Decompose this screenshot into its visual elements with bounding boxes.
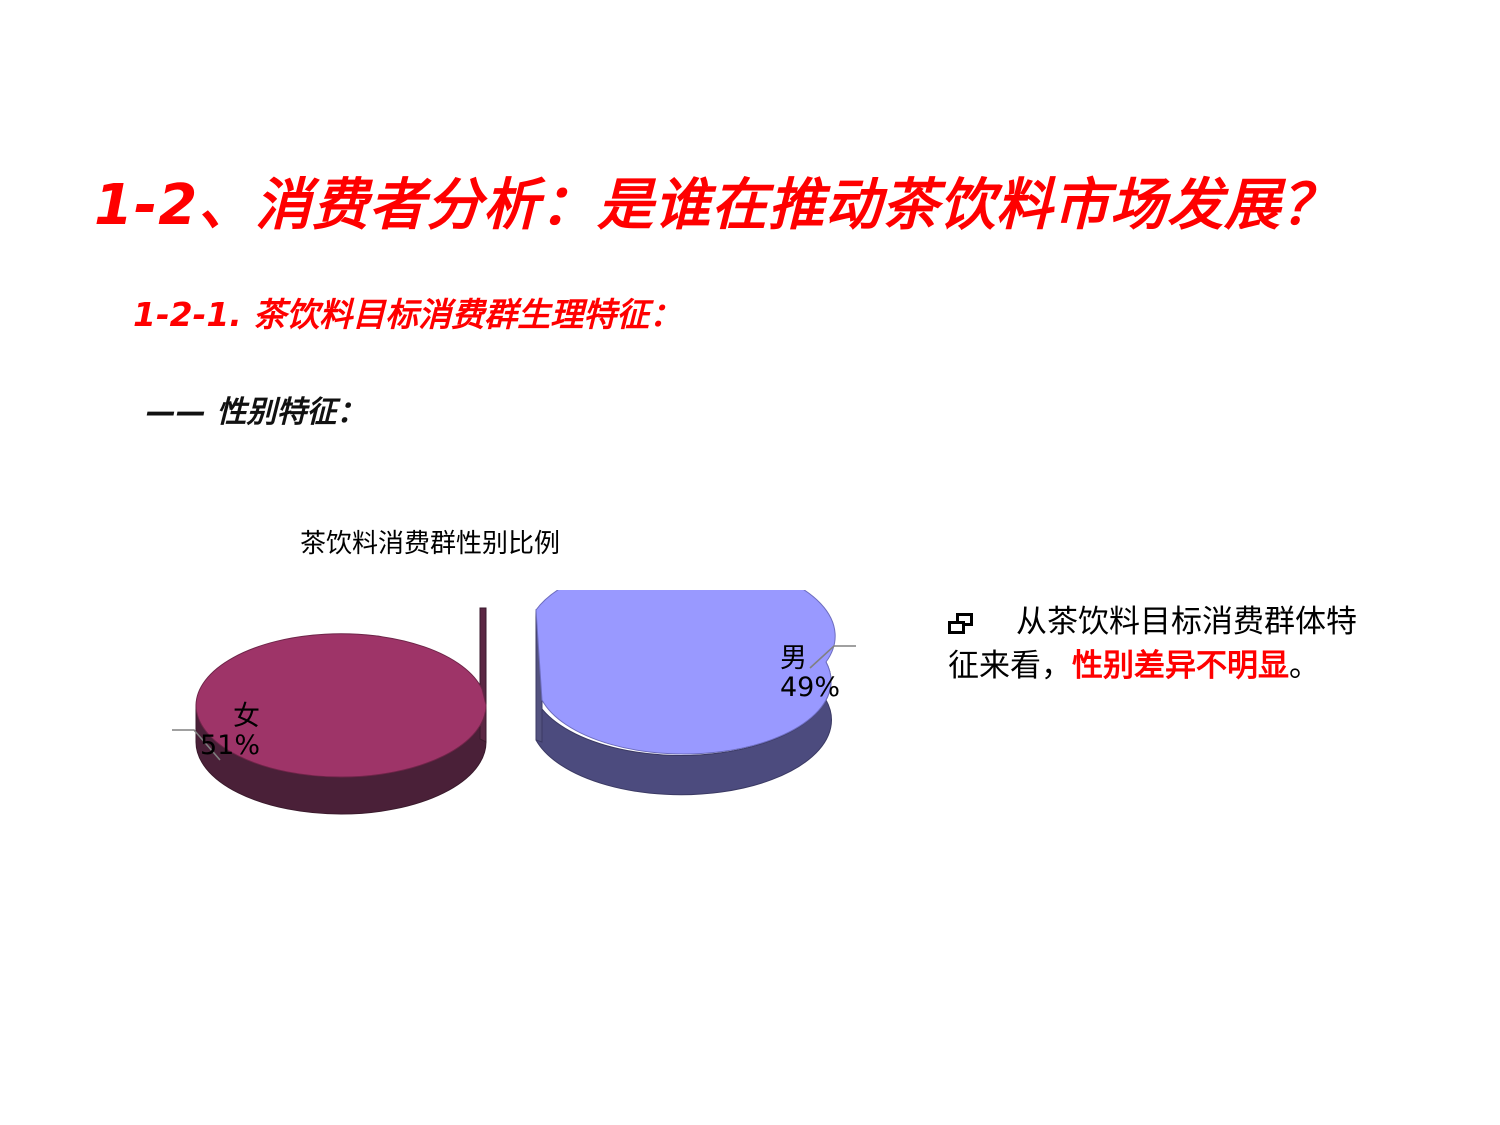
chart-title: 茶饮料消费群性别比例: [150, 523, 710, 560]
pie-label-female-percent: 51%: [188, 732, 260, 761]
commentary-text-tail: 。: [1289, 648, 1320, 684]
commentary-highlight: 性别差异不明显: [1072, 648, 1289, 684]
pie-label-male-category: 男: [780, 645, 870, 674]
commentary-paragraph: 从茶饮料目标消费群体特征来看，性别差异不明显。: [948, 600, 1368, 688]
pie-label-female: 女 51%: [188, 703, 260, 760]
pie-chart-container: 茶饮料消费群性别比例: [150, 505, 890, 835]
pie-label-female-category: 女: [188, 703, 260, 732]
pie-label-male-percent: 49%: [780, 674, 870, 703]
slide-canvas: 1-2、消费者分析：是谁在推动茶饮料市场发展？ 1-2-1. 茶饮料目标消费群生…: [0, 0, 1500, 1125]
overlapping-windows-icon: [948, 613, 974, 635]
section-subheading: 1-2-1. 茶饮料目标消费群生理特征：: [133, 288, 682, 336]
commentary-block: 从茶饮料目标消费群体特征来看，性别差异不明显。: [948, 600, 1368, 688]
topic-dash-line: —— 性别特征：: [146, 387, 366, 431]
pie-chart-graphic: [150, 590, 890, 830]
pie-label-male: 男 49%: [780, 645, 870, 702]
page-title: 1-2、消费者分析：是谁在推动茶饮料市场发展？: [94, 160, 1414, 241]
